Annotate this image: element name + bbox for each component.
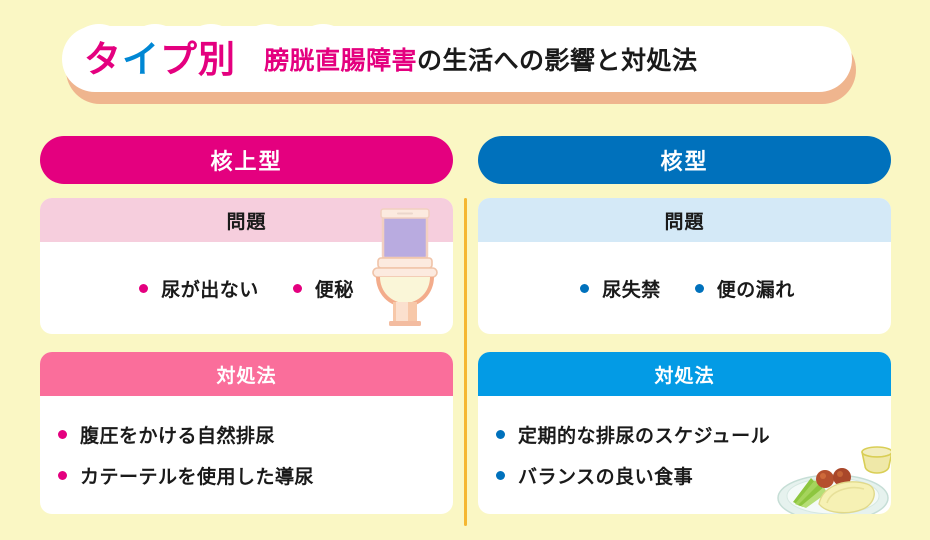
list-item-label: 定期的な排尿のスケジュール	[518, 421, 770, 448]
remedy-card-sacral: 対処法 定期的な排尿のスケジュール バランスの良い食事	[478, 352, 891, 514]
problem-card-body: 尿失禁 便の漏れ	[478, 242, 891, 334]
bullet-dot-icon	[139, 284, 148, 293]
toilet-illustration	[369, 206, 441, 328]
title-badge-char-3: プ	[160, 39, 198, 80]
problem-card-suprasacral: 問題 尿が出ない 便秘	[40, 198, 453, 334]
column-divider	[464, 198, 467, 526]
title-badge: タイプ別	[84, 41, 236, 78]
bullet-dot-icon	[580, 284, 589, 293]
columns-area: 核上型 問題 尿が出ない 便秘	[0, 136, 930, 536]
column-sacral: 核型 問題 尿失禁 便の漏れ 対処法 定期的な排尿のスケジュール	[478, 136, 891, 514]
list-item-label: 尿が出ない	[161, 275, 259, 302]
list-item-label: 便秘	[315, 275, 354, 302]
page-title-highlight: 膀胱直腸障害	[264, 47, 417, 75]
list-item-label: 便の漏れ	[717, 275, 795, 302]
page-title: 膀胱直腸障害の生活への影響と対処法	[264, 41, 698, 77]
title-banner: タイプ別 膀胱直腸障害の生活への影響と対処法	[62, 26, 852, 94]
list-item: 便の漏れ	[695, 275, 795, 302]
type-header-sacral: 核型	[478, 136, 891, 184]
column-suprasacral: 核上型 問題 尿が出ない 便秘	[40, 136, 453, 514]
bullet-dot-icon	[496, 430, 505, 439]
remedy-card-suprasacral: 対処法 腹圧をかける自然排尿 カテーテルを使用した導尿	[40, 352, 453, 514]
remedy-card-header: 対処法	[40, 352, 453, 396]
remedy-card-body: 腹圧をかける自然排尿 カテーテルを使用した導尿	[40, 396, 453, 514]
list-item: 腹圧をかける自然排尿	[58, 421, 435, 448]
bullet-dot-icon	[58, 430, 67, 439]
list-item-label: バランスの良い食事	[518, 462, 693, 489]
title-badge-char-1: タ	[84, 39, 122, 80]
bullet-dot-icon	[496, 471, 505, 480]
page-title-rest: の生活への影響と対処法	[417, 47, 698, 75]
list-item: 尿失禁	[580, 275, 661, 302]
list-item: 尿が出ない	[139, 275, 259, 302]
title-badge-char-2: イ	[122, 39, 160, 80]
bullet-dot-icon	[293, 284, 302, 293]
bullet-dot-icon	[695, 284, 704, 293]
balanced-meal-illustration	[771, 430, 891, 514]
type-header-suprasacral: 核上型	[40, 136, 453, 184]
title-badge-char-4: 別	[198, 39, 236, 80]
problem-card-sacral: 問題 尿失禁 便の漏れ	[478, 198, 891, 334]
list-item: カテーテルを使用した導尿	[58, 462, 435, 489]
bullet-dot-icon	[58, 471, 67, 480]
remedy-card-header: 対処法	[478, 352, 891, 396]
title-text-row: タイプ別 膀胱直腸障害の生活への影響と対処法	[62, 26, 852, 92]
list-item-label: 腹圧をかける自然排尿	[80, 421, 275, 448]
list-item: 便秘	[293, 275, 354, 302]
problem-card-header: 問題	[478, 198, 891, 242]
list-item-label: カテーテルを使用した導尿	[80, 462, 314, 489]
list-item-label: 尿失禁	[602, 275, 661, 302]
